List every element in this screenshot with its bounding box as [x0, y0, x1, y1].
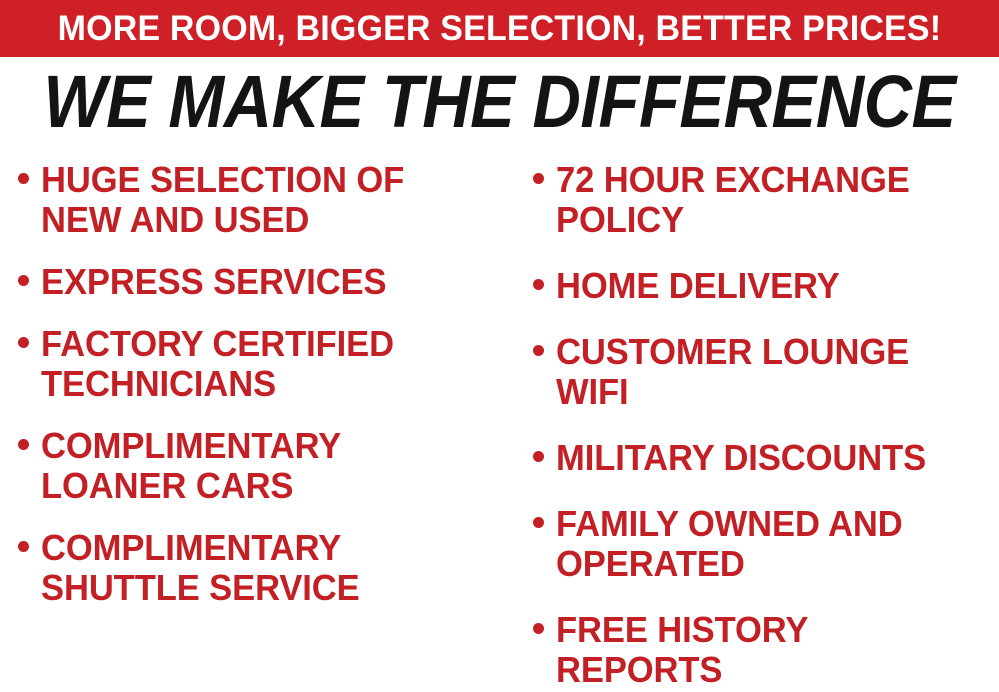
list-item: FACTORY CERTIFIED TECHNICIANS: [18, 324, 510, 404]
list-item: EXPRESS SERVICES: [18, 262, 510, 302]
list-item: CUSTOMER LOUNGE WIFI: [533, 332, 999, 412]
list-item-label: MILITARY DISCOUNTS: [556, 438, 926, 478]
bullet-dot-icon: [533, 517, 544, 528]
list-item-label: FREE HISTORY REPORTS: [556, 610, 981, 690]
list-item: FAMILY OWNED AND OPERATED: [533, 504, 999, 584]
bullet-dot-icon: [533, 173, 544, 184]
bullet-dot-icon: [533, 623, 544, 634]
list-item-label: EXPRESS SERVICES: [41, 262, 386, 302]
main-headline: WE MAKE THE DIFFERENCE: [0, 64, 999, 138]
bullet-dot-icon: [18, 541, 29, 552]
bullet-dot-icon: [18, 439, 29, 450]
list-item-label: HUGE SELECTION OF NEW AND USED: [41, 160, 491, 240]
list-item: 72 HOUR EXCHANGE POLICY: [533, 160, 999, 240]
list-item-label: COMPLIMENTARY LOANER CARS: [41, 426, 491, 506]
list-item: MILITARY DISCOUNTS: [533, 438, 999, 478]
bullet-dot-icon: [18, 275, 29, 286]
benefits-column-right: 72 HOUR EXCHANGE POLICY HOME DELIVERY CU…: [510, 160, 999, 692]
benefits-column-left: HUGE SELECTION OF NEW AND USED EXPRESS S…: [0, 160, 510, 630]
bullet-dot-icon: [18, 173, 29, 184]
list-item: COMPLIMENTARY SHUTTLE SERVICE: [18, 528, 510, 608]
list-item-label: CUSTOMER LOUNGE WIFI: [556, 332, 981, 412]
list-item: FREE HISTORY REPORTS: [533, 610, 999, 690]
promo-poster: MORE ROOM, BIGGER SELECTION, BETTER PRIC…: [0, 0, 999, 692]
bullet-dot-icon: [533, 345, 544, 356]
list-item-label: HOME DELIVERY: [556, 266, 840, 306]
list-item-label: FACTORY CERTIFIED TECHNICIANS: [41, 324, 491, 404]
bullet-dot-icon: [533, 279, 544, 290]
top-banner: MORE ROOM, BIGGER SELECTION, BETTER PRIC…: [0, 0, 999, 57]
banner-headline-text: MORE ROOM, BIGGER SELECTION, BETTER PRIC…: [58, 11, 942, 47]
list-item-label: 72 HOUR EXCHANGE POLICY: [556, 160, 981, 240]
benefits-columns: HUGE SELECTION OF NEW AND USED EXPRESS S…: [0, 160, 999, 692]
list-item: HOME DELIVERY: [533, 266, 999, 306]
bullet-dot-icon: [18, 337, 29, 348]
list-item: HUGE SELECTION OF NEW AND USED: [18, 160, 510, 240]
list-item-label: COMPLIMENTARY SHUTTLE SERVICE: [41, 528, 491, 608]
list-item: COMPLIMENTARY LOANER CARS: [18, 426, 510, 506]
bullet-dot-icon: [533, 451, 544, 462]
headline-text: WE MAKE THE DIFFERENCE: [43, 64, 955, 140]
list-item-label: FAMILY OWNED AND OPERATED: [556, 504, 981, 584]
